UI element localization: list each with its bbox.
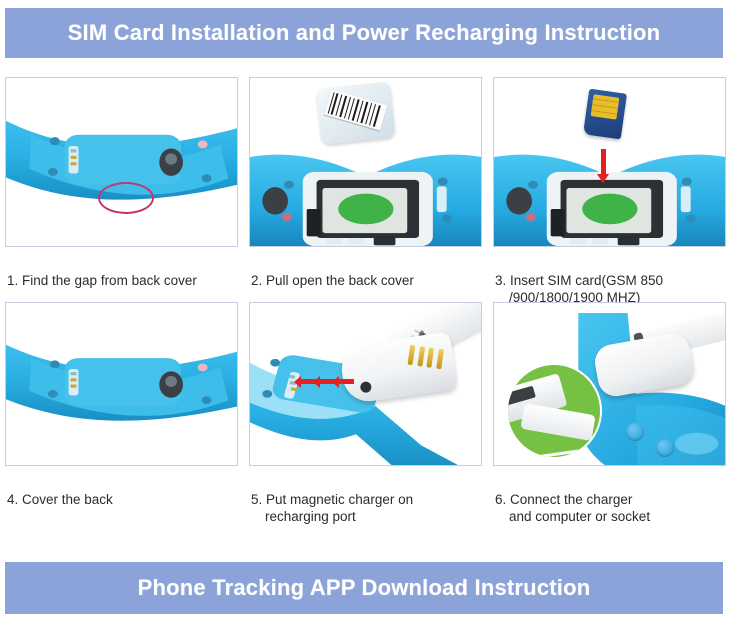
step-image-2 bbox=[249, 77, 482, 247]
instruction-row-1: 1. Find the gap from back cover bbox=[0, 72, 732, 297]
usb-connection-inset bbox=[508, 365, 600, 457]
step-cell-1: 1. Find the gap from back cover bbox=[0, 72, 244, 297]
top-banner-title: SIM Card Installation and Power Rechargi… bbox=[68, 20, 661, 46]
sim-card bbox=[583, 89, 627, 140]
step-caption-6-line1: 6. Connect the charger bbox=[495, 492, 632, 507]
step-caption-3: 3. Insert SIM card(GSM 850 /900/1800/190… bbox=[493, 247, 726, 297]
top-banner: SIM Card Installation and Power Rechargi… bbox=[5, 8, 723, 58]
step-cell-4: 4. Cover the back bbox=[0, 297, 244, 516]
watch-side-button-1 bbox=[626, 423, 644, 441]
step-cell-6: 6. Connect the charger and computer or s… bbox=[488, 297, 732, 516]
step-caption-6: 6. Connect the charger and computer or s… bbox=[493, 466, 726, 516]
step-caption-3-line1: 3. Insert SIM card(GSM 850 bbox=[495, 273, 663, 288]
step-caption-5: 5. Put magnetic charger on recharging po… bbox=[249, 466, 482, 516]
watch-side-button-2 bbox=[656, 439, 674, 457]
back-cover-piece bbox=[317, 81, 396, 144]
step-cell-2: 2. Pull open the back cover bbox=[244, 72, 488, 297]
step-caption-5-line1: 5. Put magnetic charger on bbox=[251, 492, 413, 507]
step-caption-2: 2. Pull open the back cover bbox=[249, 247, 482, 297]
watch-band-illustration-closed bbox=[5, 313, 238, 466]
step-caption-4: 4. Cover the back bbox=[5, 466, 238, 516]
step-cell-5: 🔌 5. Put magnetic charger on recharging … bbox=[244, 297, 488, 516]
bottom-banner: Phone Tracking APP Download Instruction bbox=[5, 562, 723, 614]
step-image-5: 🔌 bbox=[249, 302, 482, 466]
insert-direction-arrow-icon bbox=[601, 149, 606, 175]
step-image-1 bbox=[5, 77, 238, 247]
step-cell-3: 3. Insert SIM card(GSM 850 /900/1800/190… bbox=[488, 72, 732, 297]
bottom-banner-title: Phone Tracking APP Download Instruction bbox=[138, 575, 591, 601]
instruction-row-2: 4. Cover the back bbox=[0, 297, 732, 516]
watch-band-illustration bbox=[5, 88, 238, 247]
usb-plug-lower bbox=[520, 402, 595, 440]
step-caption-2-line1: 2. Pull open the back cover bbox=[251, 273, 414, 288]
step-image-6 bbox=[493, 302, 726, 466]
step-caption-4-line1: 4. Cover the back bbox=[7, 492, 113, 507]
step-caption-1-line1: 1. Find the gap from back cover bbox=[7, 273, 197, 288]
step-caption-1: 1. Find the gap from back cover bbox=[5, 247, 238, 297]
charger-pins bbox=[408, 344, 444, 369]
step-caption-5-line2: recharging port bbox=[251, 508, 480, 525]
attach-direction-arrows-icon bbox=[301, 379, 354, 384]
barcode-label bbox=[325, 89, 388, 130]
step-image-3 bbox=[493, 77, 726, 247]
instruction-grid: 1. Find the gap from back cover bbox=[0, 72, 732, 516]
charger-hole bbox=[360, 381, 372, 393]
step-image-4 bbox=[5, 302, 238, 466]
step-caption-6-line2: and computer or socket bbox=[495, 508, 724, 525]
